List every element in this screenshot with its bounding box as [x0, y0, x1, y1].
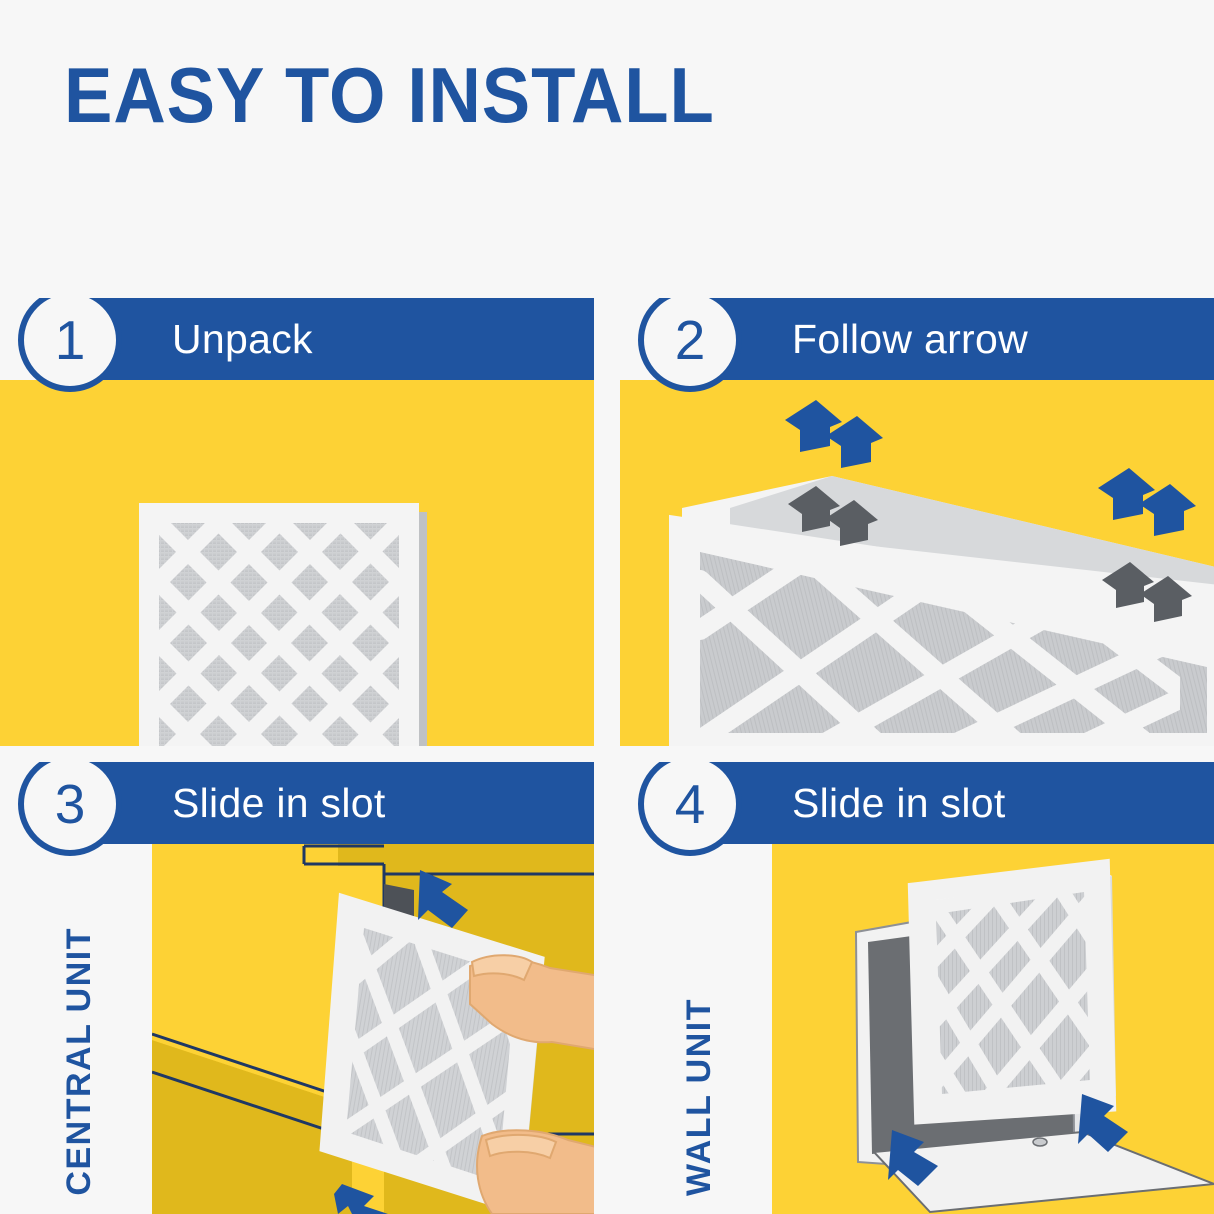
step-4-label: Slide in slot — [792, 780, 1006, 827]
step-4-header-bar: Slide in slot — [702, 762, 1214, 844]
step-4-unit-label: WALL UNIT — [680, 998, 719, 1196]
step-panel-2: Follow arrow 2 — [620, 298, 1214, 746]
air-filter-front-svg — [0, 380, 594, 746]
step-3-unit-label: CENTRAL UNIT — [60, 927, 99, 1196]
step-2-label: Follow arrow — [792, 316, 1028, 363]
central-unit-install-svg — [152, 844, 594, 1214]
step-3-header-bar: Slide in slot — [82, 762, 594, 844]
step-4-illustration — [772, 844, 1214, 1214]
step-2-illustration — [620, 380, 1214, 746]
step-panel-1: Unpack 1 — [0, 298, 600, 746]
step-1-label: Unpack — [172, 316, 313, 363]
step-3-illustration — [152, 844, 594, 1214]
wall-unit-install-svg — [772, 844, 1214, 1214]
step-panel-3: CENTRAL UNIT Slide in slot 3 — [0, 762, 600, 1214]
infographic-page: EASY TO INSTALL — [0, 0, 1214, 1214]
step-2-header-bar: Follow arrow — [702, 298, 1214, 380]
step-panel-4: WALL UNIT Slide in slot 4 — [620, 762, 1214, 1214]
page-title: EASY TO INSTALL — [64, 55, 715, 137]
step-1-header-bar: Unpack — [82, 298, 594, 380]
tilted-filter-airflow-svg — [620, 380, 1214, 746]
step-1-illustration — [0, 380, 594, 746]
airflow-arrow-blue-right — [1098, 468, 1196, 536]
airflow-arrow-blue-left — [785, 400, 883, 468]
hand-lower — [477, 1130, 594, 1214]
step-3-label: Slide in slot — [172, 780, 386, 827]
